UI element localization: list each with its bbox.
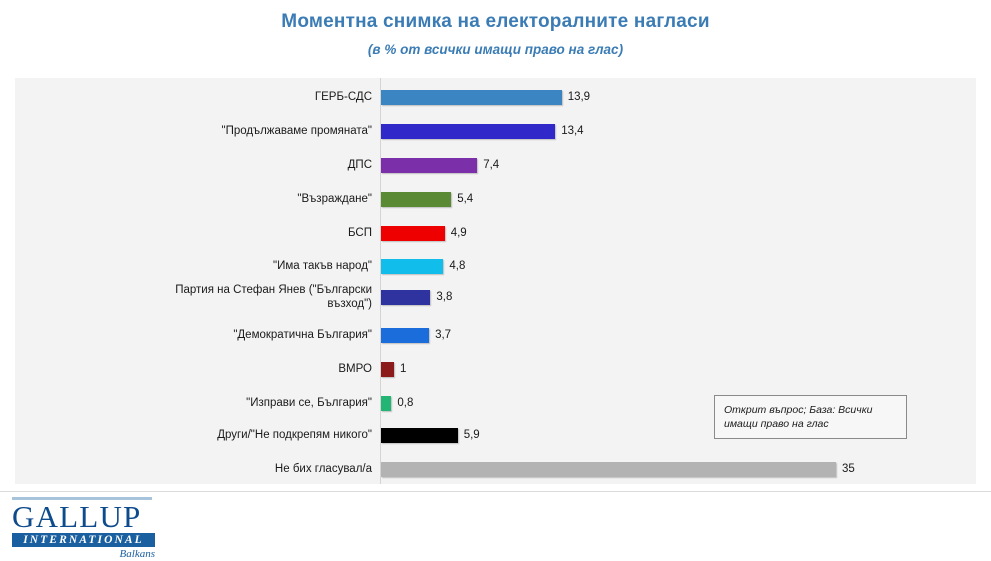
bar-row: "Има такъв народ"4,8	[15, 248, 976, 284]
bar[interactable]	[381, 362, 394, 377]
bar-group: 7,4	[381, 147, 499, 183]
bar[interactable]	[381, 90, 562, 105]
bar-group: 5,9	[381, 417, 480, 453]
bar-category-label: "Има такъв народ"	[132, 248, 372, 284]
chart-plot-area: Не бих гласувал/а35Други/"Не подкрепям н…	[15, 78, 976, 484]
bar-value-label: 0,8	[397, 397, 413, 409]
logo-region: Balkans	[12, 548, 155, 561]
bar[interactable]	[381, 124, 555, 139]
bar-category-label: "Продължаваме промяната"	[132, 113, 372, 149]
bar-category-label: "Възраждане"	[132, 181, 372, 217]
bar-category-label: ВМРО	[132, 351, 372, 387]
bar-row: "Продължаваме промяната"13,4	[15, 113, 976, 149]
bar[interactable]	[381, 158, 477, 173]
bar[interactable]	[381, 290, 430, 305]
logo-subtitle: INTERNATIONAL	[12, 533, 155, 547]
bar-group: 0,8	[381, 385, 413, 421]
bar-category-label: ГЕРБ-СДС	[132, 79, 372, 115]
title-block: Моментна снимка на електоралните нагласи…	[0, 10, 991, 58]
bar-group: 4,8	[381, 248, 465, 284]
bar-category-label: Други/"Не подкрепям никого"	[132, 417, 372, 453]
bar-row: "Възраждане"5,4	[15, 181, 976, 217]
bar-row: ВМРО1	[15, 351, 976, 387]
bar-value-label: 1	[400, 363, 406, 375]
bar[interactable]	[381, 226, 445, 241]
bar[interactable]	[381, 259, 443, 274]
bar-value-label: 7,4	[483, 159, 499, 171]
bar-category-label: "Изправи се, България"	[132, 385, 372, 421]
page-title: Моментна снимка на електоралните нагласи	[0, 10, 991, 34]
annotation-note: Открит въпрос; База: Всички имащи право …	[714, 395, 907, 439]
bar-value-label: 13,9	[568, 91, 590, 103]
bar[interactable]	[381, 428, 458, 443]
bar-value-label: 4,8	[449, 260, 465, 272]
bar[interactable]	[381, 396, 391, 411]
bar-row: Партия на Стефан Янев ("Български възход…	[15, 279, 976, 315]
gallup-international-logo: GALLUP INTERNATIONAL Balkans	[12, 497, 160, 561]
bar-group: 3,7	[381, 317, 451, 353]
bar-group: 4,9	[381, 215, 467, 251]
bar-group: 3,8	[381, 279, 452, 315]
bar-value-label: 3,8	[436, 291, 452, 303]
bar[interactable]	[381, 462, 836, 477]
bar-category-label: "Демократична България"	[132, 317, 372, 353]
bar-row: ДПС7,4	[15, 147, 976, 183]
bar-group: 35	[381, 451, 855, 487]
bar-value-label: 4,9	[451, 227, 467, 239]
bar-row: БСП4,9	[15, 215, 976, 251]
bar-group: 13,4	[381, 113, 584, 149]
bar-value-label: 5,4	[457, 193, 473, 205]
bar-category-label: Не бих гласувал/а	[132, 451, 372, 487]
footer-divider	[0, 491, 991, 492]
bar-group: 1	[381, 351, 406, 387]
bar-category-label: ДПС	[132, 147, 372, 183]
bar-row: ГЕРБ-СДС13,9	[15, 79, 976, 115]
bar-row: Не бих гласувал/а35	[15, 451, 976, 487]
bar-value-label: 5,9	[464, 429, 480, 441]
bar-group: 5,4	[381, 181, 473, 217]
bar[interactable]	[381, 192, 451, 207]
logo-wordmark: GALLUP	[12, 501, 160, 532]
bar-value-label: 3,7	[435, 329, 451, 341]
bar-value-label: 35	[842, 463, 855, 475]
bar[interactable]	[381, 328, 429, 343]
bar-category-label: Партия на Стефан Янев ("Български възход…	[132, 279, 372, 315]
bar-value-label: 13,4	[561, 125, 583, 137]
bar-row: "Демократична България"3,7	[15, 317, 976, 353]
bar-group: 13,9	[381, 79, 590, 115]
value-axis-line	[380, 78, 381, 484]
bar-category-label: БСП	[132, 215, 372, 251]
chart-subtitle: (в % от всички имащи право на глас)	[0, 42, 991, 58]
